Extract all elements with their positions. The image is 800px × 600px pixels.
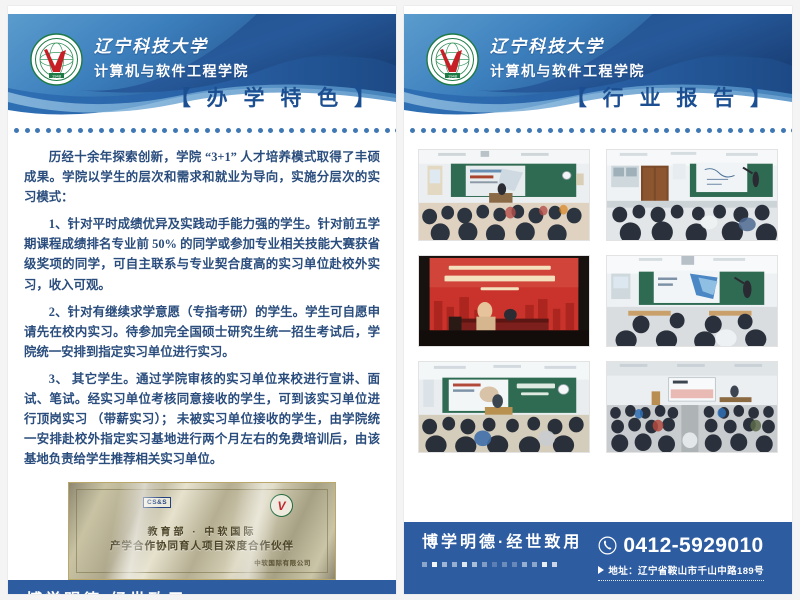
footer-square xyxy=(482,562,487,567)
divider-dot xyxy=(120,128,125,133)
university-seal-icon: 1948 xyxy=(426,33,479,86)
footer-contact-block: 0412-5929010 地址：辽宁省鞍山市千山中路189号 xyxy=(202,593,368,594)
photo-classroom-it-industry-report xyxy=(418,361,590,453)
divider-dot xyxy=(131,128,136,133)
divider-dot xyxy=(395,128,396,133)
divider-dot xyxy=(14,128,19,133)
divider-dot xyxy=(141,128,146,133)
divider-dot xyxy=(431,128,436,133)
footer-square-row xyxy=(422,562,582,567)
divider-dot xyxy=(717,128,722,133)
footer-phone-line: 0412-5929010 xyxy=(598,535,764,556)
divider-dot xyxy=(738,128,743,133)
left-panel: 1948 辽宁科技大学 计算机与软件工程学院 【 办 学 特 色 】 历经十余年… xyxy=(8,6,396,594)
plaque-line-3: 中软国际有限公司 xyxy=(254,557,311,567)
footer-phone-number[interactable]: 0412-5929010 xyxy=(623,535,763,556)
divider-dot xyxy=(342,128,347,133)
paragraph-4: 3、 其它学生。通过学院审核的实习单位来校进行宣讲、面试、笔试。经实习单位考核同… xyxy=(24,369,380,469)
footer-square xyxy=(452,562,457,567)
divider-dot xyxy=(622,128,627,133)
footer-square xyxy=(532,562,537,567)
footer-square xyxy=(502,562,507,567)
divider-dot xyxy=(332,128,337,133)
footer-square xyxy=(472,562,477,567)
plaque-line-1: 教育部 · 中软国际 xyxy=(69,523,335,538)
divider-dot xyxy=(707,128,712,133)
divider-dot xyxy=(463,128,468,133)
college-name: 计算机与软件工程学院 xyxy=(490,61,645,81)
photo-classroom-lecture-whiteboard xyxy=(606,149,778,241)
divider-dot xyxy=(675,128,680,133)
divider-dot xyxy=(590,128,595,133)
divider-dot xyxy=(311,128,316,133)
divider-dot xyxy=(374,128,379,133)
photo-stage-event-red-backdrop xyxy=(418,255,590,347)
divider-dot xyxy=(279,128,284,133)
footer-address: 地址：辽宁省鞍山市千山中路189号 xyxy=(608,563,764,577)
footer-slogan: 博学明德·经世致用 xyxy=(422,535,582,551)
phone-circle-icon xyxy=(598,536,617,555)
divider-dot xyxy=(569,128,574,133)
divider-dot xyxy=(685,128,690,133)
left-dot-divider xyxy=(8,124,396,137)
divider-dot xyxy=(601,128,606,133)
divider-dot xyxy=(300,128,305,133)
divider-dot xyxy=(516,128,521,133)
paragraph-3: 2、针对有继续求学意愿（专指考研）的学生。学生可自愿申请先在校内实习。待参加完全… xyxy=(24,302,380,362)
divider-dot xyxy=(696,128,701,133)
brochure-page: 1948 辽宁科技大学 计算机与软件工程学院 【 办 学 特 色 】 历经十余年… xyxy=(0,0,800,600)
paragraph-1: 历经十余年探索创新，学院 “3+1” 人才培养模式取得了丰硕成果。学院以学生的层… xyxy=(24,147,380,207)
left-section-title: 【 办 学 特 色 】 xyxy=(170,82,380,112)
university-name: 辽宁科技大学 xyxy=(94,36,249,57)
university-logo-right: 1948 xyxy=(426,33,479,86)
photo-classroom-small-group-presentation xyxy=(606,255,778,347)
brand-text-block-right: 辽宁科技大学 计算机与软件工程学院 xyxy=(490,36,645,81)
footer-square xyxy=(542,562,547,567)
divider-dot xyxy=(152,128,157,133)
divider-dot xyxy=(25,128,30,133)
divider-dot xyxy=(194,128,199,133)
divider-dot xyxy=(173,128,178,133)
right-panel-body xyxy=(404,137,792,522)
right-dot-divider xyxy=(404,124,792,137)
footer-square xyxy=(492,562,497,567)
divider-dot xyxy=(760,128,765,133)
divider-dot xyxy=(410,128,415,133)
divider-dot xyxy=(109,128,114,133)
footer-square xyxy=(512,562,517,567)
footer-phone-number[interactable]: 0412-5929010 xyxy=(227,593,367,594)
divider-dot xyxy=(46,128,51,133)
footer-square xyxy=(522,562,527,567)
right-panel: 1948 辽宁科技大学 计算机与软件工程学院 【 行 业 报 告 】 xyxy=(404,6,792,594)
divider-dot xyxy=(749,128,754,133)
divider-dot xyxy=(268,128,273,133)
university-seal-icon: 1948 xyxy=(30,33,83,86)
divider-dot xyxy=(781,128,786,133)
divider-dot xyxy=(385,128,390,133)
divider-dot xyxy=(537,128,542,133)
divider-dot xyxy=(643,128,648,133)
right-panel-header: 1948 辽宁科技大学 计算机与软件工程学院 【 行 业 报 告 】 xyxy=(404,6,792,124)
divider-dot xyxy=(421,128,426,133)
divider-dot xyxy=(505,128,510,133)
paragraph-2: 1、针对平时成绩优异及实践动手能力强的学生。针对前五学期课程成绩排名专业前 50… xyxy=(24,214,380,294)
divider-dot xyxy=(495,128,500,133)
svg-text:1948: 1948 xyxy=(448,73,458,78)
divider-dot xyxy=(184,128,189,133)
footer-phone-line: 0412-5929010 xyxy=(202,593,368,594)
divider-dot xyxy=(728,128,733,133)
divider-dot xyxy=(88,128,93,133)
divider-dot xyxy=(258,128,263,133)
divider-dot xyxy=(205,128,210,133)
logo-year-text: 1948 xyxy=(52,73,62,78)
divider-dot xyxy=(321,128,326,133)
divider-dot xyxy=(226,128,231,133)
footer-contact-block-right: 0412-5929010 地址：辽宁省鞍山市千山中路189号 xyxy=(598,535,764,581)
footer-slogan: 博学明德·经世致用 xyxy=(26,593,186,594)
photo-classroom-lecture-projector xyxy=(418,149,590,241)
divider-dot xyxy=(558,128,563,133)
divider-dot xyxy=(632,128,637,133)
footer-square xyxy=(432,562,437,567)
footer-square xyxy=(422,562,427,567)
divider-dot xyxy=(247,128,252,133)
divider-dot xyxy=(99,128,104,133)
divider-dot xyxy=(770,128,775,133)
divider-dot xyxy=(452,128,457,133)
partnership-plaque-image: CS&S V 教育部 · 中软国际 产学合作协同育人项目深度合作伙伴 中软国际有… xyxy=(68,482,336,580)
divider-dot xyxy=(35,128,40,133)
university-name: 辽宁科技大学 xyxy=(490,36,645,57)
plaque-line-2: 产学合作协同育人项目深度合作伙伴 xyxy=(69,538,335,553)
left-panel-header: 1948 辽宁科技大学 计算机与软件工程学院 【 办 学 特 色 】 xyxy=(8,6,396,124)
divider-dot xyxy=(654,128,659,133)
divider-dot xyxy=(664,128,669,133)
divider-dot xyxy=(289,128,294,133)
divider-dot xyxy=(527,128,532,133)
triangle-right-icon xyxy=(598,566,604,574)
divider-dot xyxy=(442,128,447,133)
photo-large-lecture-hall-audience xyxy=(606,361,778,453)
divider-dot xyxy=(484,128,489,133)
left-panel-body: 历经十余年探索创新，学院 “3+1” 人才培养模式取得了丰硕成果。学院以学生的层… xyxy=(8,137,396,580)
footer-slogan-block: 博学明德·经世致用 xyxy=(26,593,186,594)
footer-square xyxy=(552,562,557,567)
left-footer: 博学明德·经世致用 0412-5929010 地址：辽宁省鞍山市千山中路189号 xyxy=(8,580,396,594)
divider-dot xyxy=(791,128,792,133)
divider-dot xyxy=(474,128,479,133)
divider-dot xyxy=(353,128,358,133)
footer-slogan-block-right: 博学明德·经世致用 xyxy=(422,535,582,567)
right-footer: 博学明德·经世致用 0412-5929010 地址：辽宁省鞍山市千山中路189号 xyxy=(404,522,792,594)
college-name: 计算机与软件工程学院 xyxy=(94,61,249,81)
brand-text-block: 辽宁科技大学 计算机与软件工程学院 xyxy=(94,36,249,81)
divider-dot xyxy=(215,128,220,133)
divider-dot xyxy=(580,128,585,133)
photo-grid xyxy=(418,149,778,453)
divider-dot xyxy=(162,128,167,133)
divider-dot xyxy=(364,128,369,133)
footer-square xyxy=(462,562,467,567)
divider-dot xyxy=(67,128,72,133)
divider-dot xyxy=(78,128,83,133)
divider-dot xyxy=(611,128,616,133)
divider-dot xyxy=(56,128,61,133)
university-logo: 1948 xyxy=(30,33,83,86)
cs-and-s-logo: CS&S xyxy=(143,497,171,508)
footer-dotted-rule xyxy=(598,580,764,581)
right-section-title: 【 行 业 报 告 】 xyxy=(566,82,776,112)
divider-dot xyxy=(548,128,553,133)
footer-address-line: 地址：辽宁省鞍山市千山中路189号 xyxy=(598,563,764,577)
divider-dot xyxy=(236,128,241,133)
footer-square xyxy=(442,562,447,567)
